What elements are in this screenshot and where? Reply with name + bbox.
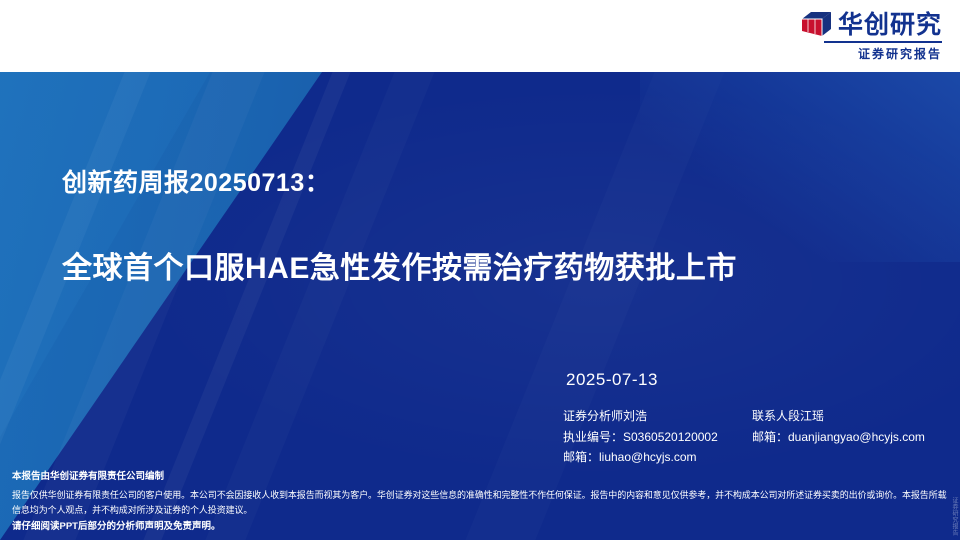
logo-wordmark: 华创研究 [838, 13, 942, 38]
report-date: 2025-07-13 [566, 370, 658, 390]
logo-row: 华创研究 [802, 12, 942, 38]
footer-notice: 请仔细阅读PPT后部分的分析师声明及免责声明。 [12, 520, 948, 534]
footer-publisher: 本报告由华创证券有限责任公司编制 [12, 470, 948, 484]
header-band: 华创研究 证券研究报告 [0, 0, 960, 72]
analyst-email: 邮箱：liuhao@hcyjs.com [563, 447, 752, 468]
analyst-license: 执业编号：S0360520120002 [563, 427, 752, 448]
brand-logo: 华创研究 证券研究报告 [802, 12, 942, 62]
analyst-info: 证券分析师刘浩 执业编号：S0360520120002 邮箱：liuhao@hc… [563, 406, 953, 468]
cube-logo-icon [802, 12, 832, 38]
side-watermark: 证券研究报告 [950, 497, 959, 536]
report-headline: 全球首个口服HAE急性发作按需治疗药物获批上市 [62, 250, 737, 288]
analyst-name: 证券分析师刘浩 [563, 406, 752, 427]
contact-name: 联系人段江瑶 [752, 406, 952, 427]
footer-legal-text: 报告仅供华创证券有限责任公司的客户使用。本公司不会因接收人收到本报告而视其为客户… [12, 488, 948, 517]
logo-divider [824, 41, 942, 43]
analyst-column-contact: 联系人段江瑶 邮箱：duanjiangyao@hcyjs.com [752, 406, 952, 468]
report-cover-slide: 华创研究 证券研究报告 创新药周报20250713： 全球首个口服HAE急性发作… [0, 0, 960, 540]
analyst-column-primary: 证券分析师刘浩 执业编号：S0360520120002 邮箱：liuhao@hc… [563, 406, 752, 468]
report-subtitle: 创新药周报20250713： [62, 168, 737, 198]
footer-disclaimer: 本报告由华创证券有限责任公司编制 报告仅供华创证券有限责任公司的客户使用。本公司… [12, 470, 948, 535]
logo-subtitle: 证券研究报告 [858, 45, 942, 62]
title-block: 创新药周报20250713： 全球首个口服HAE急性发作按需治疗药物获批上市 [62, 168, 737, 288]
contact-email: 邮箱：duanjiangyao@hcyjs.com [752, 427, 952, 448]
